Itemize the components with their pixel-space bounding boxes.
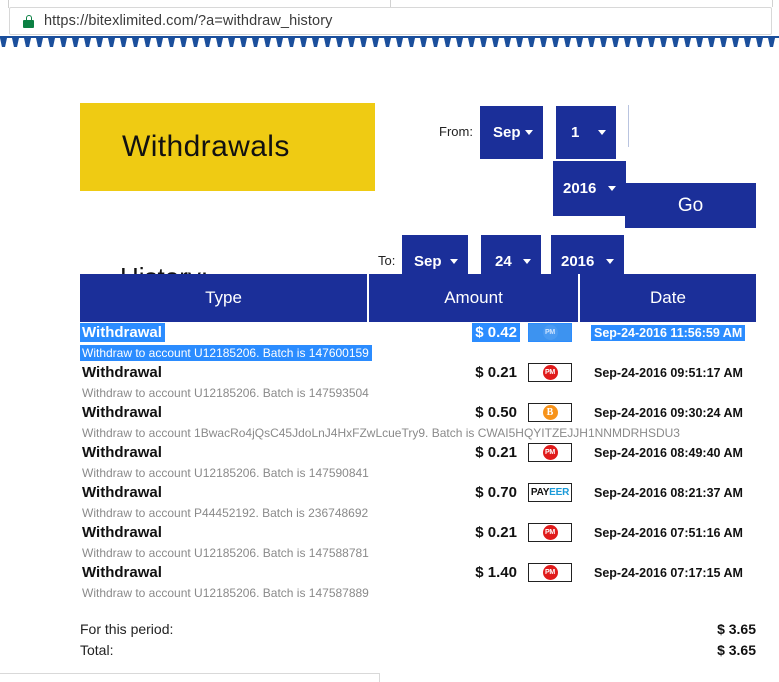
tooth-shape <box>384 38 391 47</box>
browser-chrome: https://bitexlimited.com/?a=withdraw_his… <box>0 0 779 36</box>
transaction-type: Withdrawal <box>80 483 165 502</box>
tooth-shape <box>504 38 511 47</box>
tooth-shape <box>252 38 259 47</box>
cell-date: Sep-24-2016 07:17:15 AM <box>580 565 756 581</box>
transaction-amount: $ 1.40 <box>472 563 520 582</box>
transaction-detail: Withdraw to account 1BwacRo4jQsC45JdoLnJ… <box>80 425 683 441</box>
transaction-date: Sep-24-2016 11:56:59 AM <box>591 325 745 341</box>
tooth-shape <box>120 38 127 47</box>
bitcoin-icon: B <box>528 403 572 422</box>
tooth-shape <box>636 38 643 47</box>
transaction-detail: Withdraw to account U12185206. Batch is … <box>80 385 372 401</box>
from-day-select[interactable]: 1 <box>556 106 616 159</box>
totals-block: For this period:$ 3.65Total:$ 3.65 <box>80 618 756 660</box>
cell-date: Sep-24-2016 08:49:40 AM <box>580 445 756 461</box>
cell-type: Withdrawal <box>80 523 369 542</box>
perfect-money-icon: PM <box>528 563 572 582</box>
total-line: For this period:$ 3.65 <box>80 618 756 639</box>
tab-seam <box>772 0 773 7</box>
cell-date: Sep-24-2016 08:21:37 AM <box>580 485 756 501</box>
row-detail: Withdraw to account U12185206. Batch is … <box>80 463 756 482</box>
tooth-shape <box>708 38 715 47</box>
tooth-shape <box>312 38 319 47</box>
transaction-date: Sep-24-2016 07:51:16 AM <box>591 525 746 541</box>
address-bar-url: https://bitexlimited.com/?a=withdraw_his… <box>44 13 332 29</box>
cell-type: Withdrawal <box>80 323 369 342</box>
tooth-shape <box>240 38 247 47</box>
tooth-shape <box>276 38 283 47</box>
tooth-shape <box>540 38 547 47</box>
cell-date: Sep-24-2016 09:51:17 AM <box>580 365 756 381</box>
tooth-shape <box>696 38 703 47</box>
tooth-shape <box>480 38 487 47</box>
tooth-shape <box>576 38 583 47</box>
tab-seam <box>390 0 391 7</box>
table-body: Withdrawal$ 0.42PMSep-24-2016 11:56:59 A… <box>80 322 756 602</box>
tooth-shape <box>48 38 55 47</box>
table-row[interactable]: Withdrawal$ 0.21PMSep-24-2016 08:49:40 A… <box>80 442 756 482</box>
row-detail: Withdraw to account P44452192. Batch is … <box>80 503 756 522</box>
lock-icon <box>23 15 34 28</box>
transaction-detail: Withdraw to account U12185206. Batch is … <box>80 345 372 361</box>
tooth-shape <box>36 38 43 47</box>
page-content: Withdrawals History: From: To: Sep 1 201… <box>0 50 779 682</box>
tooth-shape <box>144 38 151 47</box>
cell-amount: $ 1.40PM <box>369 563 580 582</box>
tooth-shape <box>300 38 307 47</box>
tab-strip-edge <box>0 0 9 8</box>
tooth-shape <box>768 38 775 47</box>
tooth-shape <box>516 38 523 47</box>
transaction-detail: Withdraw to account P44452192. Batch is … <box>80 505 371 521</box>
total-label: For this period: <box>80 621 173 637</box>
tooth-shape <box>600 38 607 47</box>
tooth-shape <box>396 38 403 47</box>
cell-date: Sep-24-2016 09:30:24 AM <box>580 405 756 421</box>
teeth-row <box>0 38 779 47</box>
transaction-type: Withdrawal <box>80 363 165 382</box>
tooth-shape <box>564 38 571 47</box>
total-value: $ 3.65 <box>717 642 756 658</box>
tooth-shape <box>216 38 223 47</box>
cell-amount: $ 0.21PM <box>369 523 580 542</box>
perfect-money-icon: PM <box>528 323 572 342</box>
transaction-date: Sep-24-2016 07:17:15 AM <box>591 565 746 581</box>
tooth-shape <box>192 38 199 47</box>
address-bar[interactable]: https://bitexlimited.com/?a=withdraw_his… <box>9 7 772 35</box>
to-year-value: 2016 <box>561 253 594 270</box>
tooth-shape <box>588 38 595 47</box>
row-detail: Withdraw to account U12185206. Batch is … <box>80 543 756 562</box>
tooth-shape <box>132 38 139 47</box>
tooth-shape <box>468 38 475 47</box>
transaction-type: Withdrawal <box>80 403 165 422</box>
tooth-shape <box>732 38 739 47</box>
withdrawals-table: Type Amount Date Withdrawal$ 0.42PMSep-2… <box>80 274 756 602</box>
tooth-shape <box>408 38 415 47</box>
cell-date: Sep-24-2016 07:51:16 AM <box>580 525 756 541</box>
table-row[interactable]: Withdrawal$ 0.42PMSep-24-2016 11:56:59 A… <box>80 322 756 362</box>
column-header-date: Date <box>580 274 756 322</box>
column-header-amount: Amount <box>369 274 580 322</box>
chevron-down-icon <box>450 259 458 264</box>
table-row[interactable]: Withdrawal$ 0.21PMSep-24-2016 07:51:16 A… <box>80 522 756 562</box>
tooth-shape <box>492 38 499 47</box>
tooth-shape <box>648 38 655 47</box>
cell-date: Sep-24-2016 11:56:59 AM <box>580 325 756 341</box>
transaction-amount: $ 0.50 <box>472 403 520 422</box>
table-header-row: Type Amount Date <box>80 274 756 322</box>
transaction-type: Withdrawal <box>80 563 165 582</box>
tooth-shape <box>348 38 355 47</box>
tooth-shape <box>72 38 79 47</box>
tooth-shape <box>84 38 91 47</box>
tooth-shape <box>156 38 163 47</box>
tooth-shape <box>672 38 679 47</box>
decorative-teeth-strip <box>0 36 779 50</box>
tooth-shape <box>180 38 187 47</box>
tooth-shape <box>0 38 7 47</box>
from-year-select[interactable]: 2016 <box>553 161 626 216</box>
total-value: $ 3.65 <box>717 621 756 637</box>
table-row[interactable]: Withdrawal$ 0.21PMSep-24-2016 09:51:17 A… <box>80 362 756 402</box>
chevron-down-icon <box>608 186 616 191</box>
go-button[interactable]: Go <box>625 183 756 228</box>
from-month-value: Sep <box>493 124 521 141</box>
cell-type: Withdrawal <box>80 563 369 582</box>
transaction-date: Sep-24-2016 09:51:17 AM <box>591 365 746 381</box>
tooth-shape <box>756 38 763 47</box>
table-row[interactable]: Withdrawal$ 0.50BSep-24-2016 09:30:24 AM… <box>80 402 756 442</box>
tooth-shape <box>372 38 379 47</box>
tooth-shape <box>612 38 619 47</box>
tooth-shape <box>660 38 667 47</box>
row-detail: Withdraw to account U12185206. Batch is … <box>80 583 756 602</box>
transaction-date: Sep-24-2016 08:49:40 AM <box>591 445 746 461</box>
tooth-shape <box>324 38 331 47</box>
transaction-type: Withdrawal <box>80 443 165 462</box>
from-month-select[interactable]: Sep <box>480 106 543 159</box>
cell-type: Withdrawal <box>80 403 369 422</box>
page-title: Withdrawals <box>122 130 290 164</box>
transaction-detail: Withdraw to account U12185206. Batch is … <box>80 585 372 601</box>
tooth-shape <box>336 38 343 47</box>
total-line: Total:$ 3.65 <box>80 639 756 660</box>
tooth-shape <box>528 38 535 47</box>
transaction-amount: $ 0.70 <box>472 483 520 502</box>
column-header-type: Type <box>80 274 369 322</box>
tooth-shape <box>204 38 211 47</box>
transaction-amount: $ 0.21 <box>472 363 520 382</box>
tooth-shape <box>552 38 559 47</box>
chevron-down-icon <box>598 130 606 135</box>
transaction-type: Withdrawal <box>80 323 165 342</box>
tooth-shape <box>420 38 427 47</box>
table-row[interactable]: Withdrawal$ 0.70PAYEERSep-24-2016 08:21:… <box>80 482 756 522</box>
page-bottom-panel <box>0 673 380 682</box>
tooth-shape <box>288 38 295 47</box>
tooth-shape <box>168 38 175 47</box>
perfect-money-icon: PM <box>528 443 572 462</box>
tooth-shape <box>720 38 727 47</box>
payeer-icon: PAYEER <box>528 483 572 502</box>
tooth-shape <box>24 38 31 47</box>
transaction-detail: Withdraw to account U12185206. Batch is … <box>80 465 372 481</box>
table-row[interactable]: Withdrawal$ 1.40PMSep-24-2016 07:17:15 A… <box>80 562 756 602</box>
chevron-down-icon <box>523 259 531 264</box>
cell-amount: $ 0.42PM <box>369 323 580 342</box>
transaction-type: Withdrawal <box>80 523 165 542</box>
perfect-money-icon: PM <box>528 363 572 382</box>
row-detail: Withdraw to account U12185206. Batch is … <box>80 343 756 362</box>
perfect-money-icon: PM <box>528 523 572 542</box>
cell-amount: $ 0.70PAYEER <box>369 483 580 502</box>
cell-amount: $ 0.21PM <box>369 443 580 462</box>
cell-amount: $ 0.21PM <box>369 363 580 382</box>
tooth-shape <box>624 38 631 47</box>
tooth-shape <box>12 38 19 47</box>
to-day-value: 24 <box>495 253 512 270</box>
row-detail: Withdraw to account 1BwacRo4jQsC45JdoLnJ… <box>80 423 756 442</box>
tooth-shape <box>456 38 463 47</box>
to-label: To: <box>378 253 395 268</box>
row-detail: Withdraw to account U12185206. Batch is … <box>80 383 756 402</box>
chevron-down-icon <box>525 130 533 135</box>
tooth-shape <box>432 38 439 47</box>
from-day-value: 1 <box>571 124 579 141</box>
transaction-amount: $ 0.42 <box>472 323 520 342</box>
transaction-date: Sep-24-2016 08:21:37 AM <box>591 485 746 501</box>
cell-type: Withdrawal <box>80 363 369 382</box>
chevron-down-icon <box>606 259 614 264</box>
tooth-shape <box>96 38 103 47</box>
transaction-amount: $ 0.21 <box>472 523 520 542</box>
page-title-banner: Withdrawals <box>80 103 375 191</box>
transaction-date: Sep-24-2016 09:30:24 AM <box>591 405 746 421</box>
filter-divider <box>628 105 629 147</box>
tooth-shape <box>108 38 115 47</box>
tooth-shape <box>228 38 235 47</box>
from-label: From: <box>439 124 473 139</box>
tooth-shape <box>60 38 67 47</box>
cell-type: Withdrawal <box>80 483 369 502</box>
cell-type: Withdrawal <box>80 443 369 462</box>
cell-amount: $ 0.50B <box>369 403 580 422</box>
tooth-shape <box>360 38 367 47</box>
to-month-value: Sep <box>414 253 442 270</box>
from-year-value: 2016 <box>563 180 596 197</box>
tooth-shape <box>264 38 271 47</box>
transaction-amount: $ 0.21 <box>472 443 520 462</box>
tooth-shape <box>684 38 691 47</box>
tooth-shape <box>744 38 751 47</box>
tooth-shape <box>444 38 451 47</box>
total-label: Total: <box>80 642 113 658</box>
transaction-detail: Withdraw to account U12185206. Batch is … <box>80 545 372 561</box>
